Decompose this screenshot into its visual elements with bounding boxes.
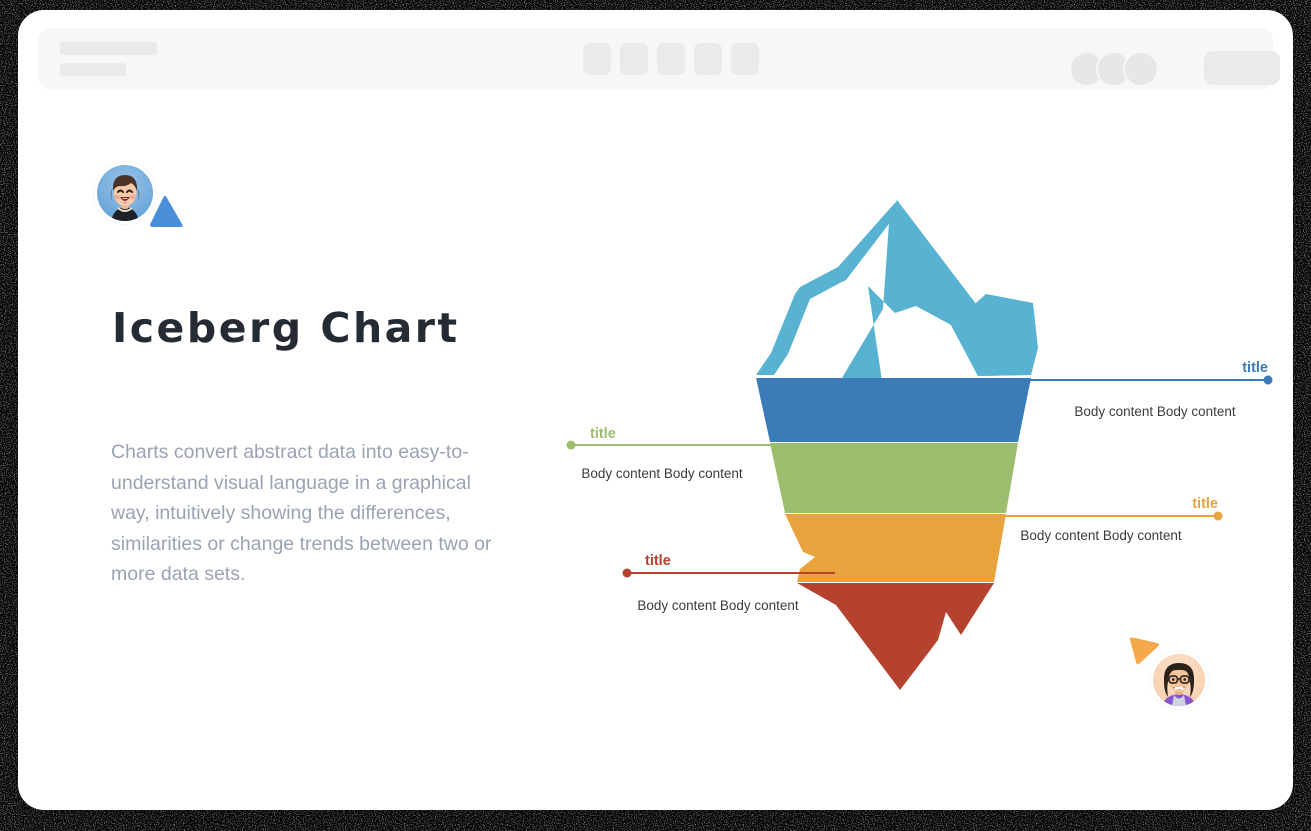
- layer-blue[interactable]: [756, 378, 1031, 442]
- layer-orange[interactable]: [785, 514, 1006, 582]
- layer-green[interactable]: [770, 443, 1018, 513]
- layer-red[interactable]: [797, 583, 994, 690]
- toolbar-button-3[interactable]: [657, 43, 685, 75]
- window-toolbar: [38, 28, 1273, 90]
- iceberg-chart-figure: title Body content Body content title Bo…: [538, 180, 1278, 710]
- toolbar-center-button-group: [583, 43, 759, 75]
- callout-orange-body: Body content Body content: [1020, 528, 1182, 543]
- toolbar-placeholder-bar-2: [60, 63, 126, 76]
- callout-red-body: Body content Body content: [637, 598, 799, 613]
- callout-blue[interactable]: title Body content Body content: [1028, 360, 1273, 419]
- collaborator-avatar-top[interactable]: [94, 162, 156, 224]
- callout-blue-title: title: [1242, 360, 1268, 376]
- toolbar-action-pill[interactable]: [1204, 51, 1280, 85]
- toolbar-button-4[interactable]: [694, 43, 722, 75]
- toolbar-avatar-group[interactable]: [1069, 51, 1150, 87]
- callout-orange[interactable]: title Body content Body content: [1000, 496, 1223, 543]
- toolbar-button-1[interactable]: [583, 43, 611, 75]
- toolbar-placeholder-bar-1: [60, 42, 157, 55]
- page-title: Iceberg Chart: [112, 304, 460, 352]
- callout-green-title: title: [590, 426, 616, 442]
- callout-blue-body: Body content Body content: [1074, 404, 1236, 419]
- callout-blue-endpoint: [1264, 376, 1273, 385]
- cursor-pointer-blue: [148, 194, 184, 228]
- callout-orange-title: title: [1192, 496, 1218, 512]
- callout-green[interactable]: title Body content Body content: [567, 426, 782, 481]
- collaborator-avatar-bottom[interactable]: [1150, 651, 1208, 709]
- callout-green-body: Body content Body content: [581, 466, 743, 481]
- callout-green-endpoint: [567, 441, 576, 450]
- app-window-card: Iceberg Chart Charts convert abstract da…: [18, 10, 1293, 810]
- toolbar-button-5[interactable]: [731, 43, 759, 75]
- callout-red-endpoint: [623, 569, 632, 578]
- callout-orange-endpoint: [1214, 512, 1223, 521]
- callout-red-title: title: [645, 553, 671, 569]
- toolbar-button-2[interactable]: [620, 43, 648, 75]
- toolbar-avatar-3[interactable]: [1123, 51, 1159, 87]
- iceberg-underwater-layers: [756, 378, 1031, 690]
- page-body-text: Charts convert abstract data into easy-t…: [111, 437, 493, 590]
